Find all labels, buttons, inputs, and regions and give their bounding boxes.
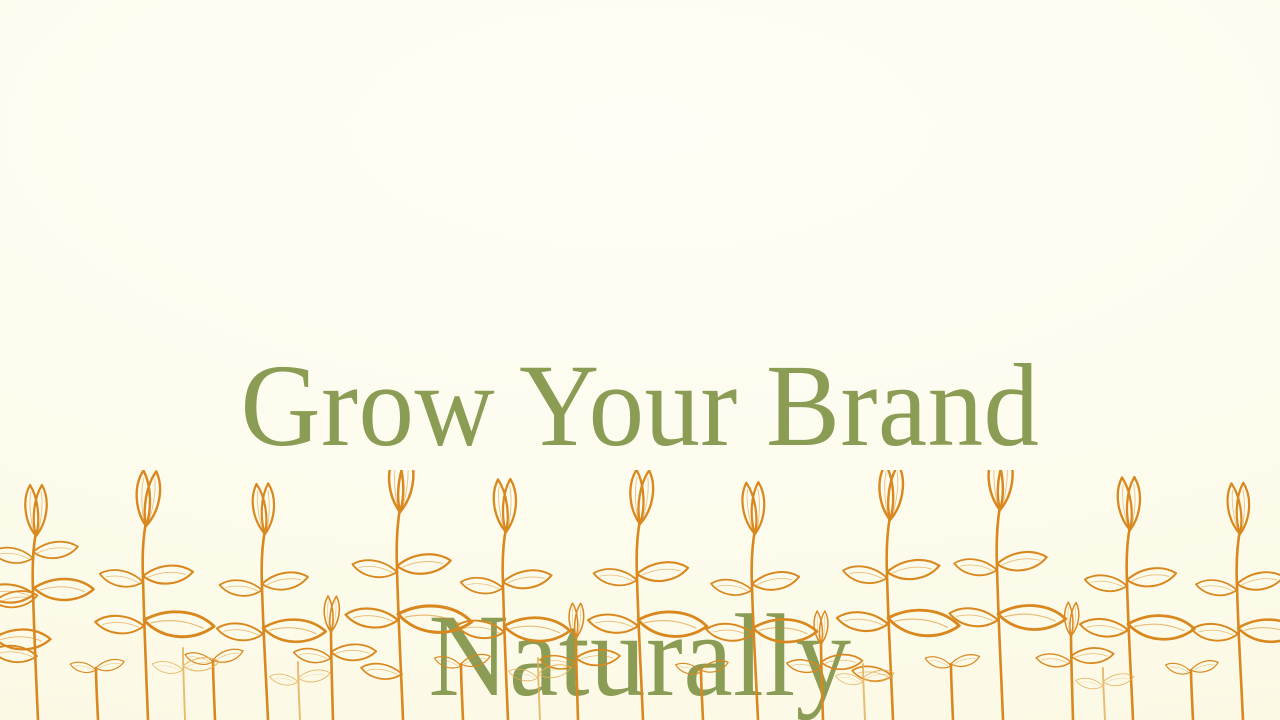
headline-line-1: Grow Your Brand — [38, 343, 1241, 468]
slide-canvas: Grow Your Brand Naturally — [0, 0, 1280, 720]
page-title: Grow Your Brand Naturally — [0, 218, 1280, 720]
headline-line-2: Naturally — [38, 593, 1241, 718]
